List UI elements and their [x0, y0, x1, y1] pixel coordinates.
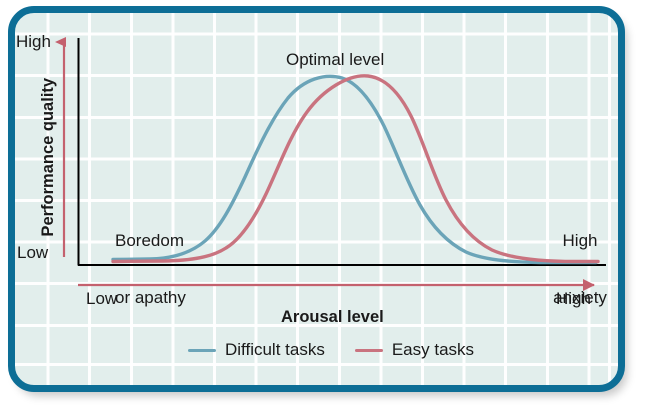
annotation-optimal-level: Optimal level: [286, 50, 384, 69]
y-axis-high-label: High: [16, 32, 51, 51]
annotation-boredom-line2: or apathy: [115, 288, 186, 307]
annotation-high-anxiety: High anxiety: [543, 193, 617, 345]
legend-swatch-easy-tasks: [355, 349, 383, 352]
x-axis-title: Arousal level: [281, 308, 384, 326]
figure-root: High Low Performance quality Low High Ar…: [0, 0, 649, 420]
legend-item-easy-tasks: Easy tasks: [355, 340, 474, 360]
legend-swatch-difficult-tasks: [188, 349, 216, 352]
y-axis-title: Performance quality: [39, 62, 57, 252]
x-axis-low-label: Low: [86, 289, 117, 308]
annotation-anxiety-line1: High: [543, 231, 617, 250]
legend-item-difficult-tasks: Difficult tasks: [188, 340, 325, 360]
legend-label-difficult-tasks: Difficult tasks: [225, 340, 325, 360]
chart-legend: Difficult tasks Easy tasks: [188, 340, 474, 360]
legend-label-easy-tasks: Easy tasks: [392, 340, 474, 360]
annotation-anxiety-line2: anxiety: [543, 288, 617, 307]
annotation-boredom-line1: Boredom: [115, 231, 186, 250]
annotation-boredom-or-apathy: Boredom or apathy: [115, 193, 186, 345]
